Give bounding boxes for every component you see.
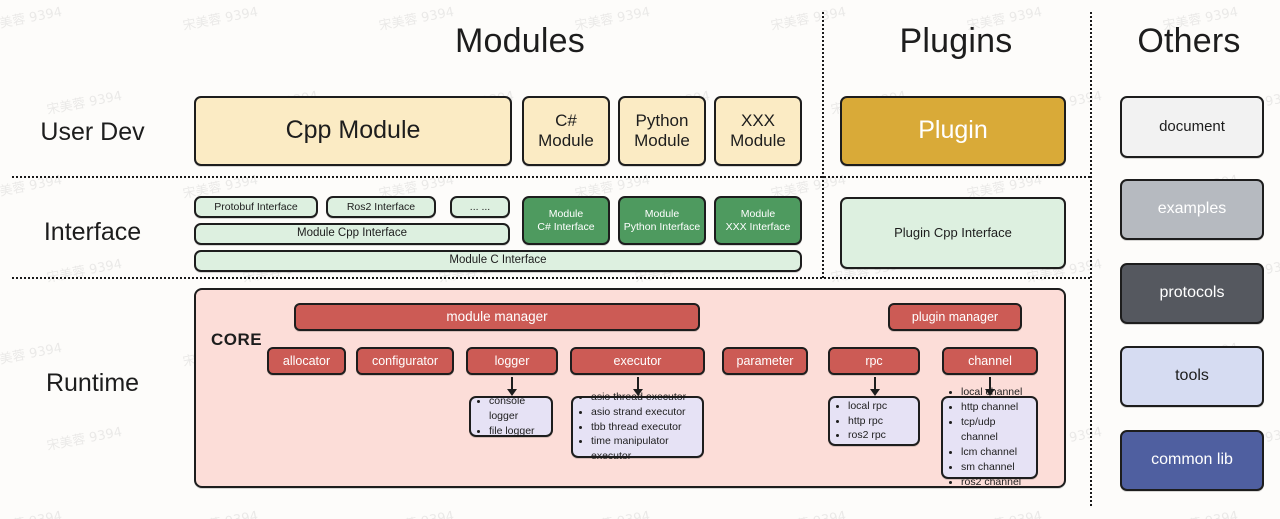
list-item: file logger	[489, 424, 545, 439]
column-title-others: Others	[1104, 22, 1274, 61]
divider-modules-plugins	[822, 12, 824, 278]
list-item: sm channel	[961, 460, 1030, 475]
logger-details-list: console loggerfile logger	[475, 394, 545, 439]
others-common-lib-label: common lib	[1151, 451, 1233, 470]
logger-label: logger	[495, 354, 530, 369]
plugin-label: Plugin	[918, 116, 988, 146]
list-item: ros2 channel	[961, 475, 1030, 490]
csharp-module-box[interactable]: C# Module	[522, 96, 610, 166]
channel-label: channel	[968, 354, 1012, 369]
allocator-label: allocator	[283, 354, 330, 369]
module-csharp-interface-line1: Module	[549, 208, 583, 220]
allocator-box[interactable]: allocator	[267, 347, 346, 375]
module-xxx-interface-line2: XXX Interface	[726, 221, 791, 233]
channel-details-list: local channelhttp channeltcp/udp channel…	[947, 385, 1030, 489]
list-item: http rpc	[848, 414, 887, 429]
core-label: CORE	[211, 330, 262, 350]
others-examples-label: examples	[1158, 200, 1226, 219]
watermark-text: 宋美蓉 9394	[573, 505, 651, 519]
watermark-text: 宋美蓉 9394	[1161, 505, 1239, 519]
watermark-text: 宋美蓉 9394	[377, 505, 455, 519]
module-c-interface-box[interactable]: Module C Interface	[194, 250, 802, 272]
row-label-interface: Interface	[10, 218, 175, 247]
rpc-details-box: local rpchttp rpcros2 rpc	[828, 396, 920, 446]
divider-interface-runtime	[12, 277, 1090, 279]
configurator-label: configurator	[372, 354, 438, 369]
plugin-box[interactable]: Plugin	[840, 96, 1066, 166]
configurator-box[interactable]: configurator	[356, 347, 454, 375]
list-item: http channel	[961, 400, 1030, 415]
rpc-box[interactable]: rpc	[828, 347, 920, 375]
module-cpp-interface-label: Module Cpp Interface	[297, 227, 407, 241]
cpp-module-label: Cpp Module	[286, 116, 421, 146]
others-document-box[interactable]: document	[1120, 96, 1264, 158]
logger-details-box: console loggerfile logger	[469, 396, 553, 437]
module-xxx-interface-box[interactable]: Module XXX Interface	[714, 196, 802, 245]
module-c-interface-label: Module C Interface	[449, 254, 546, 268]
module-manager-box[interactable]: module manager	[294, 303, 700, 331]
others-tools-box[interactable]: tools	[1120, 346, 1264, 407]
module-python-interface-box[interactable]: Module Python Interface	[618, 196, 706, 245]
list-item: local rpc	[848, 399, 887, 414]
rpc-label: rpc	[865, 354, 882, 369]
watermark-text: 宋美蓉 9394	[45, 253, 123, 286]
cpp-module-box[interactable]: Cpp Module	[194, 96, 512, 166]
csharp-module-label-line1: C#	[555, 111, 577, 131]
ros2-interface-label: Ros2 Interface	[347, 201, 415, 213]
channel-details-box: local channelhttp channeltcp/udp channel…	[941, 396, 1038, 479]
executor-label: executor	[614, 354, 662, 369]
plugin-cpp-interface-box[interactable]: Plugin Cpp Interface	[840, 197, 1066, 269]
architecture-diagram: 宋美蓉 9394宋美蓉 9394宋美蓉 9394宋美蓉 9394宋美蓉 9394…	[0, 0, 1280, 519]
watermark-text: 宋美蓉 9394	[0, 505, 63, 519]
list-item: asio thread executor	[591, 390, 696, 405]
xxx-module-box[interactable]: XXX Module	[714, 96, 802, 166]
parameter-box[interactable]: parameter	[722, 347, 808, 375]
executor-details-list: asio thread executorasio strand executor…	[577, 390, 696, 465]
rpc-details-list: local rpchttp rpcros2 rpc	[834, 399, 887, 444]
logger-box[interactable]: logger	[466, 347, 558, 375]
parameter-label: parameter	[737, 354, 794, 369]
others-tools-label: tools	[1175, 367, 1209, 386]
list-item: console logger	[489, 394, 545, 424]
plugin-manager-box[interactable]: plugin manager	[888, 303, 1022, 331]
list-item: lcm channel	[961, 445, 1030, 460]
rpc-arrow-icon	[870, 389, 880, 396]
column-title-modules: Modules	[355, 22, 685, 61]
python-module-label-line2: Module	[634, 131, 690, 151]
others-examples-box[interactable]: examples	[1120, 179, 1264, 240]
watermark-text: 宋美蓉 9394	[45, 421, 123, 454]
ros2-interface-box[interactable]: Ros2 Interface	[326, 196, 436, 218]
list-item: tbb thread executor	[591, 420, 696, 435]
watermark-text: 宋美蓉 9394	[769, 505, 847, 519]
module-python-interface-line1: Module	[645, 208, 679, 220]
module-cpp-interface-box[interactable]: Module Cpp Interface	[194, 223, 510, 245]
xxx-module-label-line1: XXX	[741, 111, 775, 131]
executor-details-box: asio thread executorasio strand executor…	[571, 396, 704, 458]
others-protocols-box[interactable]: protocols	[1120, 263, 1264, 324]
watermark-text: 宋美蓉 9394	[965, 505, 1043, 519]
watermark-text: 宋美蓉 9394	[181, 1, 259, 34]
protobuf-interface-box[interactable]: Protobuf Interface	[194, 196, 318, 218]
others-document-label: document	[1159, 118, 1225, 136]
module-manager-label: module manager	[446, 309, 547, 325]
more-interface-label: ... ...	[470, 201, 490, 213]
column-title-plugins: Plugins	[836, 22, 1076, 61]
python-module-label-line1: Python	[636, 111, 689, 131]
module-csharp-interface-line2: C# Interface	[537, 221, 594, 233]
watermark-text: 宋美蓉 9394	[45, 85, 123, 118]
divider-plugins-others	[1090, 12, 1092, 506]
row-label-user-dev: User Dev	[10, 118, 175, 147]
module-csharp-interface-box[interactable]: Module C# Interface	[522, 196, 610, 245]
plugin-cpp-interface-label: Plugin Cpp Interface	[894, 225, 1012, 240]
others-protocols-label: protocols	[1160, 284, 1225, 303]
list-item: asio strand executor	[591, 405, 696, 420]
module-python-interface-line2: Python Interface	[624, 221, 700, 233]
list-item: ros2 rpc	[848, 428, 887, 443]
row-label-runtime: Runtime	[10, 369, 175, 398]
xxx-module-label-line2: Module	[730, 131, 786, 151]
python-module-box[interactable]: Python Module	[618, 96, 706, 166]
more-interface-box[interactable]: ... ...	[450, 196, 510, 218]
watermark-text: 宋美蓉 9394	[0, 169, 63, 202]
module-xxx-interface-line1: Module	[741, 208, 775, 220]
protobuf-interface-label: Protobuf Interface	[214, 201, 297, 213]
csharp-module-label-line2: Module	[538, 131, 594, 151]
list-item: local channel	[961, 385, 1030, 400]
watermark-text: 宋美蓉 9394	[0, 1, 63, 34]
channel-box[interactable]: channel	[942, 347, 1038, 375]
executor-box[interactable]: executor	[570, 347, 705, 375]
watermark-text: 宋美蓉 9394	[181, 505, 259, 519]
list-item: tcp/udp channel	[961, 415, 1030, 445]
watermark-text: 宋美蓉 9394	[0, 337, 63, 370]
others-common-lib-box[interactable]: common lib	[1120, 430, 1264, 491]
divider-user-dev-interface	[12, 176, 1090, 178]
list-item: time manipulator executor	[591, 434, 696, 464]
plugin-manager-label: plugin manager	[912, 310, 998, 325]
